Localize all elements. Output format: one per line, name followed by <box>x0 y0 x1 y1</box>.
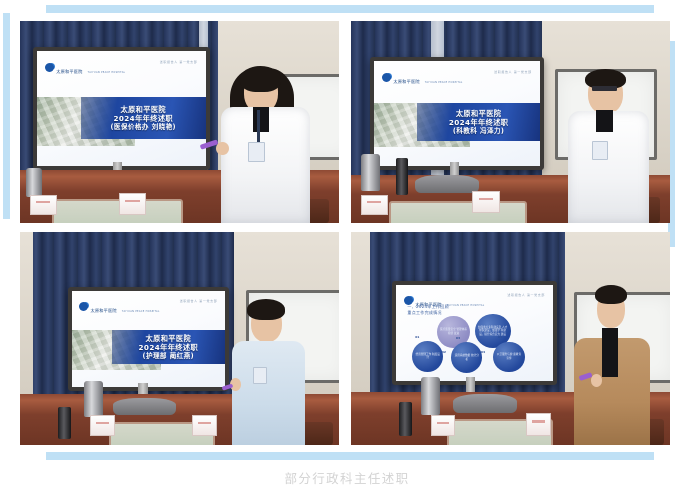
id-badge <box>248 142 265 162</box>
thermos-prop <box>26 168 42 196</box>
speaker-person <box>568 283 664 445</box>
microphone-unit <box>113 398 177 415</box>
hospital-logo: 太原和平医院 TAIYUAN PEACE HOSPITAL <box>382 68 462 87</box>
slide-title-line3: (医保价格办 刘晓艳) <box>111 123 176 131</box>
slide-title-line1: 太原和平医院 <box>120 105 166 114</box>
table-glass-top <box>389 201 527 223</box>
slide-title-line2: 2024年年终述职 <box>113 114 173 123</box>
hair <box>247 299 285 320</box>
logo-subtext: TAIYUAN PEACE HOSPITAL <box>425 81 463 84</box>
photo-1[interactable]: 太原和平医院 TAIYUAN PEACE HOSPITAL 述职报告人 第一党支… <box>20 21 339 223</box>
microphone-unit <box>453 394 517 413</box>
infographic-bubble-03: 运营系统数据 统计分析 <box>451 342 482 373</box>
slide-title-line1: 太原和平医院 <box>146 334 192 343</box>
bubble-number-04: 04 <box>481 350 485 354</box>
photo-2[interactable]: 太原和平医院 TAIYUAN PEACE HOSPITAL 述职报告人 第一党支… <box>351 21 670 223</box>
accent-bar-left <box>3 13 10 219</box>
table-card-prop <box>30 195 58 215</box>
id-badge <box>253 367 267 384</box>
speaker-person <box>224 296 320 445</box>
slide-title-band: 太原和平医院 2024年年终述职 (护理部 蔺红燕) <box>112 330 225 365</box>
infographic-bubble-01: 经营管理工作 制度设计 <box>412 341 443 373</box>
presentation-display[interactable]: 太原和平医院 TAIYUAN PEACE HOSPITAL 述职报告人 第一党支… <box>392 281 556 385</box>
table-card-prop <box>472 191 500 213</box>
logo-text: 太原和平医院 <box>56 69 82 74</box>
slide-screen: 太原和平医院 TAIYUAN PEACE HOSPITAL 述职报告人 第一党支… <box>396 285 552 381</box>
table-glass-top <box>52 199 184 223</box>
table-card-prop <box>192 415 216 436</box>
thermos-prop <box>421 377 440 415</box>
speaker-person <box>562 65 664 223</box>
inner-shirt <box>253 107 269 133</box>
logo-subtext: TAIYUAN PEACE HOSPITAL <box>447 304 485 307</box>
inner-shirt <box>596 110 612 132</box>
slide-screen: 太原和平医院 TAIYUAN PEACE HOSPITAL 述职报告人 第一党支… <box>37 51 206 166</box>
bottle-prop <box>399 402 412 436</box>
presentation-display[interactable]: 太原和平医院 TAIYUAN PEACE HOSPITAL 述职报告人 第一党支… <box>370 57 544 170</box>
glasses-icon <box>592 86 616 91</box>
collage-caption: 部分行政科主任述职 <box>0 468 694 487</box>
infographic-bubble-05: 公卫服务与健 康教育宣传 <box>493 342 524 373</box>
slide-title-band: 太原和平医院 2024年年终述职 (医保价格办 刘晓艳) <box>81 97 206 138</box>
slide-section-title: 一、2024年工作回顾 重点工作完成情况 <box>407 304 448 316</box>
table-card-prop <box>361 195 389 215</box>
slide-title-line1: 太原和平医院 <box>456 109 502 118</box>
slide-title-band: 太原和平医院 2024年年终述职 (科教科 冯泽力) <box>417 103 540 141</box>
photo-collage-page: 太原和平医院 TAIYUAN PEACE HOSPITAL 述职报告人 第一党支… <box>0 0 694 498</box>
slide-title-line2: 2024年年终述职 <box>139 343 199 352</box>
hair-top <box>240 66 281 92</box>
photo-4[interactable]: 太原和平医院 TAIYUAN PEACE HOSPITAL 述职报告人 第一党支… <box>351 232 670 445</box>
logo-text: 太原和平医院 <box>90 308 116 313</box>
accent-bar-bottom <box>46 452 654 460</box>
hospital-logo: 太原和平医院 TAIYUAN PEACE HOSPITAL <box>79 297 159 316</box>
slide-screen: 太原和平医院 TAIYUAN PEACE HOSPITAL 述职报告人 第一党支… <box>72 291 225 387</box>
slide-screen: 太原和平医院 TAIYUAN PEACE HOSPITAL 述职报告人 第一党支… <box>374 61 540 166</box>
logo-mark-icon <box>45 63 54 72</box>
slide-header-note: 述职报告人 第一党支部 <box>494 70 532 74</box>
table-card-prop <box>90 415 114 436</box>
logo-mark-icon <box>382 73 391 82</box>
logo-subtext: TAIYUAN PEACE HOSPITAL <box>88 71 126 74</box>
photo-3[interactable]: 太原和平医院 TAIYUAN PEACE HOSPITAL 述职报告人 第一党支… <box>20 232 339 445</box>
inner-top <box>602 328 617 377</box>
accent-bar-top <box>46 5 654 13</box>
presentation-display[interactable]: 太原和平医院 TAIYUAN PEACE HOSPITAL 述职报告人 第一党支… <box>33 47 210 170</box>
bubble-number-02: 02 <box>442 350 446 354</box>
table-card-prop <box>119 193 147 215</box>
bubble-number-05: 05 <box>498 335 502 339</box>
nurse-uniform <box>232 341 305 445</box>
thermos-prop <box>361 154 380 190</box>
logo-text: 太原和平医院 <box>393 79 419 84</box>
hair <box>595 285 628 304</box>
slide-header-note: 述职报告人 第一党支部 <box>507 293 545 297</box>
logo-mark-icon <box>79 302 88 311</box>
slide-header-note: 述职报告人 第一党支部 <box>180 299 218 303</box>
table-card-prop <box>431 415 455 436</box>
hospital-logo: 太原和平医院 TAIYUAN PEACE HOSPITAL <box>45 58 125 77</box>
logo-subtext: TAIYUAN PEACE HOSPITAL <box>122 310 160 313</box>
bottle-prop <box>396 158 409 194</box>
slide-title-line3: (科教科 冯泽力) <box>453 127 505 135</box>
lanyard <box>257 110 259 146</box>
id-badge <box>592 141 608 160</box>
slide-header-note: 述职报告人 第一党支部 <box>160 60 198 64</box>
thermos-prop <box>84 381 103 417</box>
hand <box>591 374 602 387</box>
slide-title-line3: (护理部 蔺红燕) <box>143 352 195 360</box>
presentation-display[interactable]: 太原和平医院 TAIYUAN PEACE HOSPITAL 述职报告人 第一党支… <box>68 287 229 391</box>
slide-infographic: 太原和平医院 TAIYUAN PEACE HOSPITAL 述职报告人 第一党支… <box>396 285 552 381</box>
bubble-number-01: 01 <box>415 335 419 339</box>
hand <box>216 142 229 155</box>
bubble-number-03: 03 <box>456 336 460 340</box>
bottle-prop <box>58 407 71 439</box>
speaker-person <box>211 61 326 223</box>
table-card-prop <box>526 413 550 436</box>
microphone-unit <box>415 175 479 193</box>
slide-title-line2: 2024年年终述职 <box>449 118 509 127</box>
photo-grid: 太原和平医院 TAIYUAN PEACE HOSPITAL 述职报告人 第一党支… <box>20 21 670 445</box>
